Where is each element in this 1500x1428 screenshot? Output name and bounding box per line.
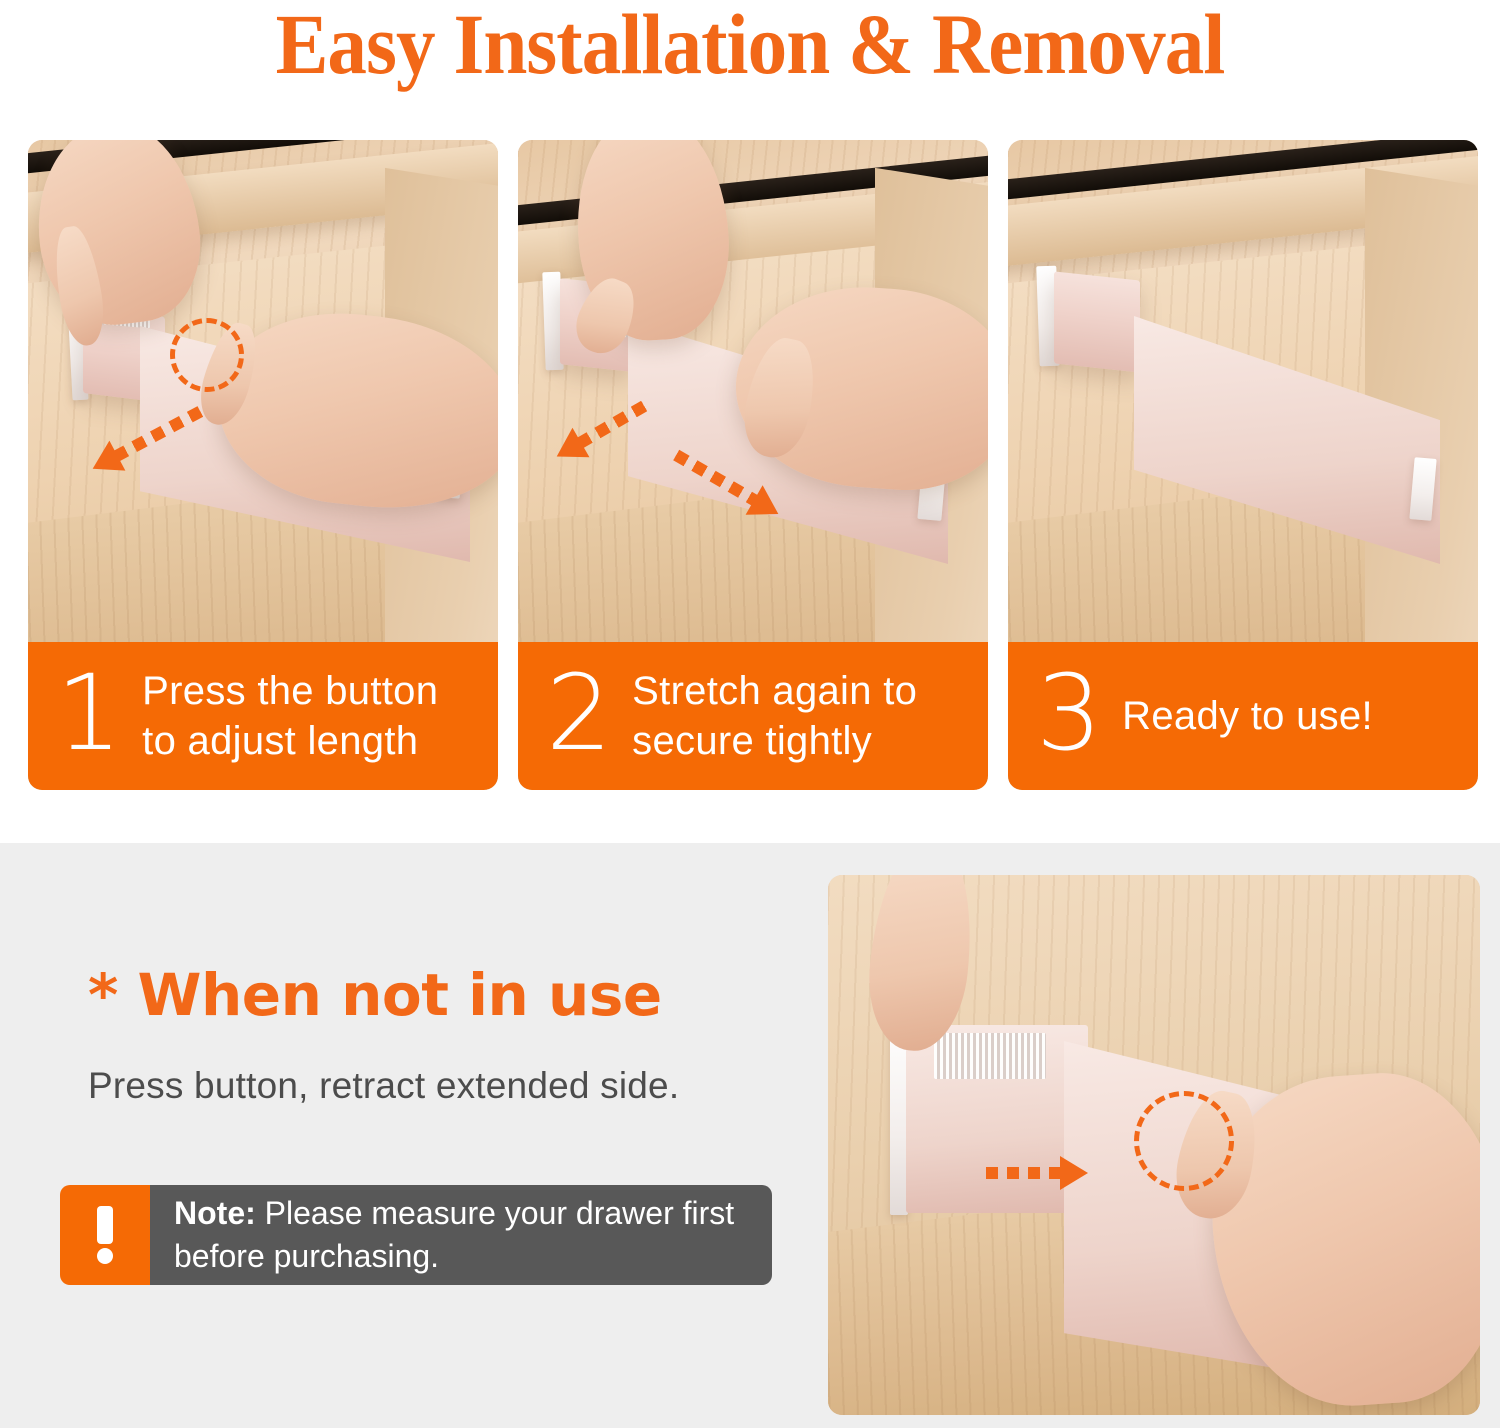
steps-row: 1 Press the button to adjust length — [28, 140, 1478, 790]
when-not-in-use-section: * When not in use Press button, retract … — [0, 843, 1500, 1428]
note-label: Note: — [174, 1195, 256, 1231]
step-1-number: 1 — [56, 661, 122, 765]
step-2-line2: secure tightly — [632, 719, 872, 763]
direction-arrow-right — [986, 1167, 1062, 1179]
step-3-text: Ready to use! — [1122, 691, 1373, 741]
step-2-text: Stretch again to secure tightly — [632, 666, 917, 766]
button-highlight-circle — [170, 318, 244, 392]
page-title: Easy Installation & Removal — [60, 0, 1440, 94]
step-2-number: 2 — [546, 661, 612, 765]
step-3-number: 3 — [1036, 661, 1102, 765]
divider-left-segment — [1054, 271, 1140, 372]
button-highlight-circle — [1134, 1091, 1234, 1191]
when-not-in-use-text-block: * When not in use Press button, retract … — [88, 963, 788, 1109]
step-1-line2: to adjust length — [142, 719, 418, 763]
retract-photo — [828, 875, 1480, 1415]
step-1-caption: 1 Press the button to adjust length — [28, 642, 498, 790]
infographic-page: Easy Installation & Removal — [0, 0, 1500, 1428]
step-2-line1: Stretch again to — [632, 669, 917, 713]
step-2-caption: 2 Stretch again to secure tightly — [518, 642, 988, 790]
step-1-text: Press the button to adjust length — [142, 666, 438, 766]
when-not-in-use-subtext: Press button, retract extended side. — [88, 1063, 788, 1109]
step-card-3: 3 Ready to use! — [1008, 140, 1478, 790]
note-message: Please measure your drawer first before … — [174, 1195, 734, 1274]
step-card-1: 1 Press the button to adjust length — [28, 140, 498, 790]
exclamation-icon — [60, 1185, 150, 1285]
step-3-caption: 3 Ready to use! — [1008, 642, 1478, 790]
when-not-in-use-heading: * When not in use — [88, 963, 788, 1027]
step-1-line1: Press the button — [142, 669, 438, 713]
note-text: Note: Please measure your drawer first b… — [150, 1185, 772, 1285]
step-card-2: 2 Stretch again to secure tightly — [518, 140, 988, 790]
divider-ridges — [934, 1033, 1046, 1079]
note-banner: Note: Please measure your drawer first b… — [60, 1185, 772, 1285]
